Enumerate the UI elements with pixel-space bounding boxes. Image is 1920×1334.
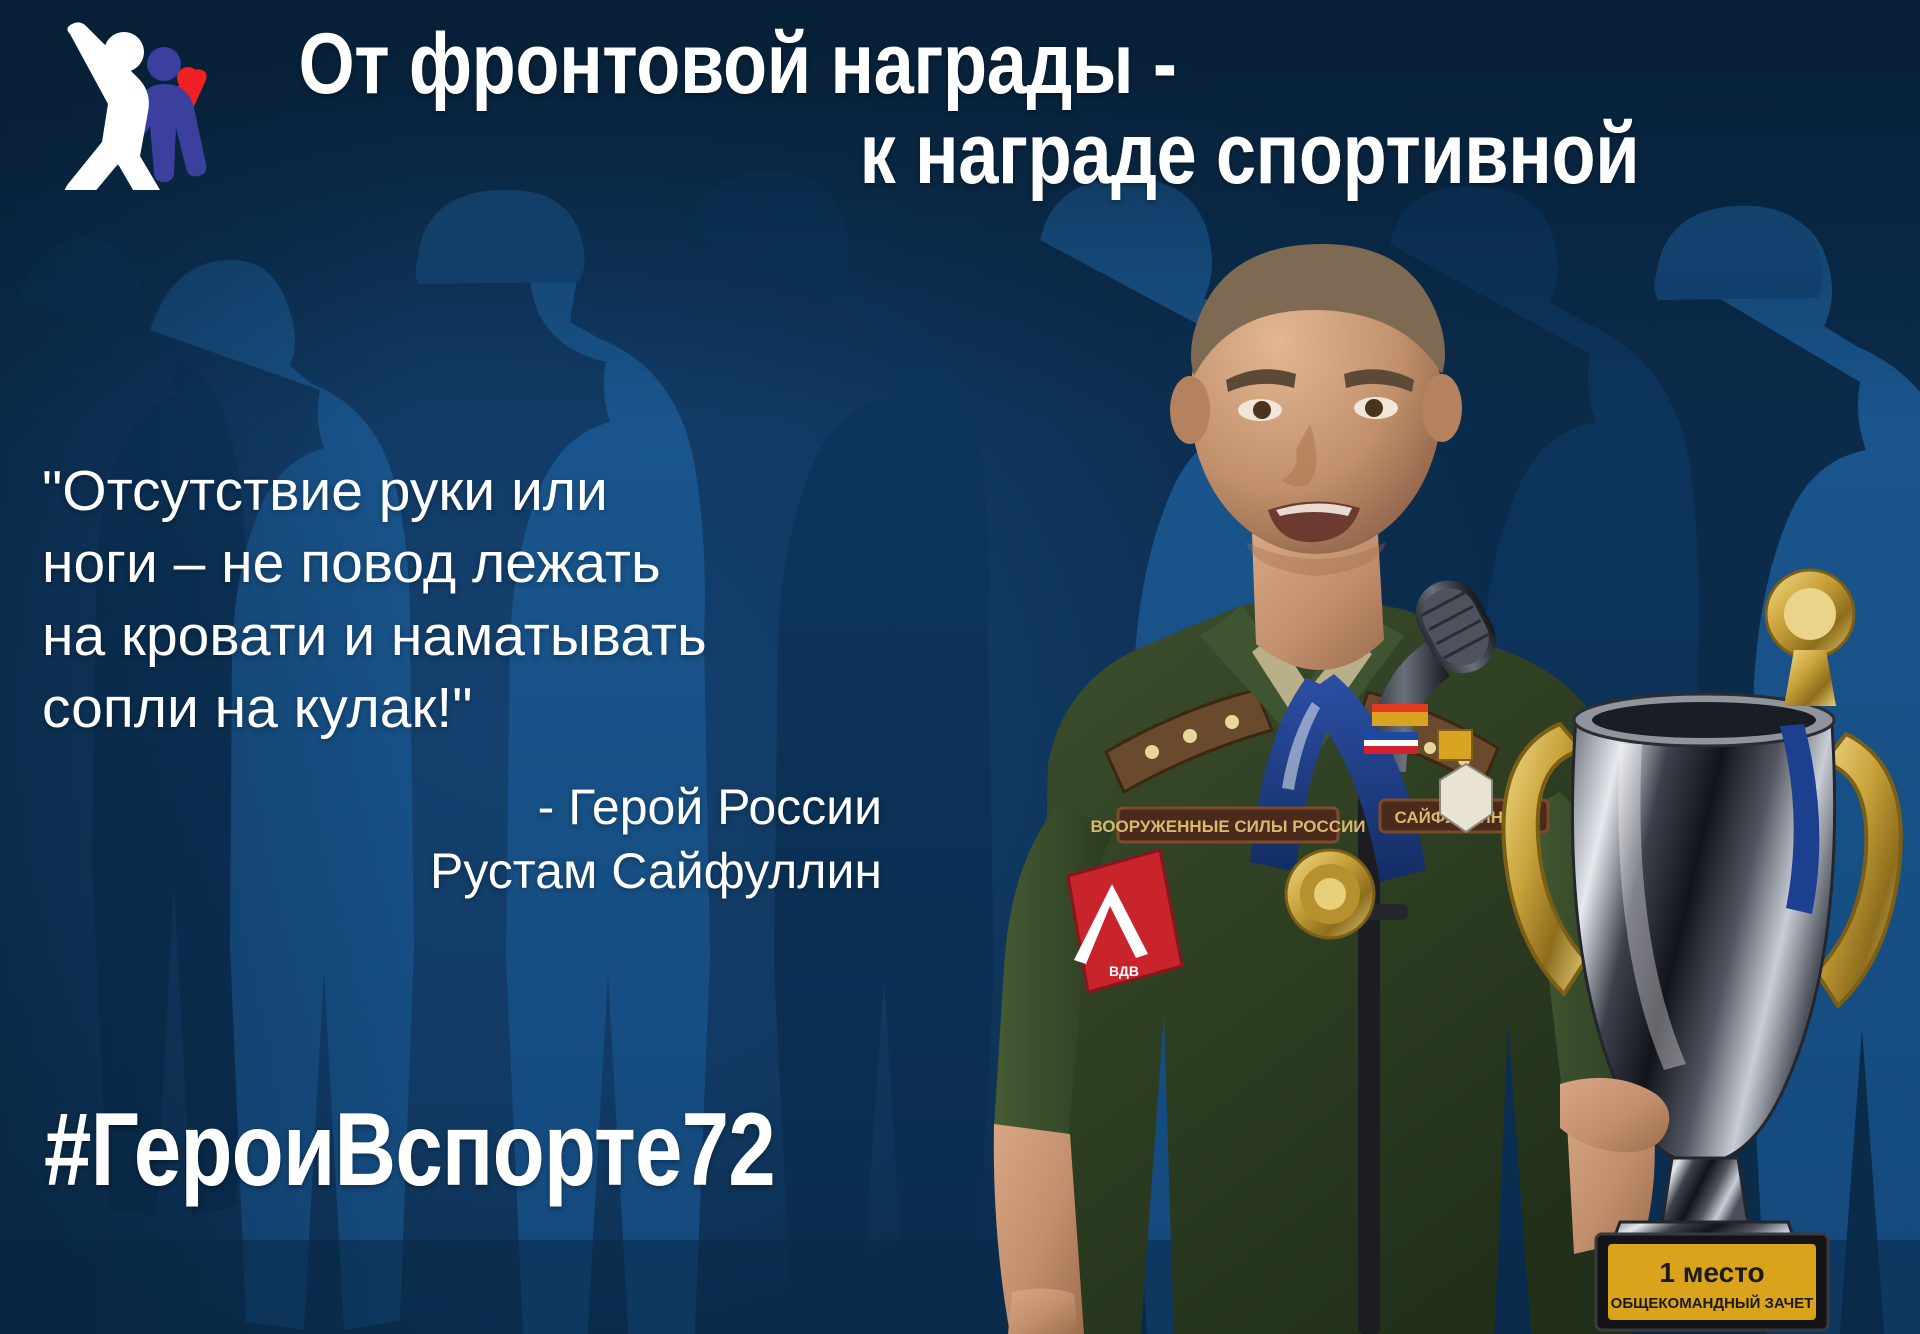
svg-text:1 место: 1 место [1659, 1257, 1764, 1288]
quote-line-3: на кровати и наматывать [42, 600, 1002, 672]
quote-attribution: - Герой России Рустам Сайфуллин [42, 775, 1002, 903]
headline-line-1: От фронтовой награды - [280, 22, 1641, 106]
quote-line-1: "Отсутствие руки или [42, 455, 1002, 527]
quote-line-2: ноги – не повод лежать [42, 527, 1002, 599]
svg-text:ОБЩЕКОМАНДНЫЙ ЗАЧЕТ: ОБЩЕКОМАНДНЫЙ ЗАЧЕТ [1611, 1294, 1814, 1312]
trophy-plaque: 1 место ОБЩЕКОМАНДНЫЙ ЗАЧЕТ [1596, 1234, 1828, 1330]
officer-photo: ВООРУЖЕННЫЕ СИЛЫ РОССИИ САЙФУЛЛИН Р.Г. [860, 204, 1920, 1334]
quote-line-4: сопли на кулак!" [42, 672, 1002, 744]
svg-text:ВДВ: ВДВ [1109, 963, 1139, 979]
page-title: От фронтовой награды - к награде спортив… [280, 22, 1641, 197]
chest-patch: ВООРУЖЕННЫЕ СИЛЫ РОССИИ [1090, 808, 1365, 842]
poster-canvas: От фронтовой награды - к награде спортив… [0, 0, 1920, 1334]
sport-figures-logo-icon [36, 18, 262, 190]
quote-text: "Отсутствие руки или ноги – не повод леж… [42, 455, 1002, 745]
headline-line-2: к награде спортивной [280, 112, 1641, 196]
svg-text:ВООРУЖЕННЫЕ СИЛЫ РОССИИ: ВООРУЖЕННЫЕ СИЛЫ РОССИИ [1090, 817, 1365, 836]
attribution-line-2: Рустам Сайфуллин [42, 839, 882, 903]
attribution-line-1: - Герой России [42, 775, 882, 839]
hashtag-label: #ГероиВспорте72 [44, 1098, 775, 1202]
shoulder-sleeve-patch: ВДВ [1068, 850, 1182, 992]
